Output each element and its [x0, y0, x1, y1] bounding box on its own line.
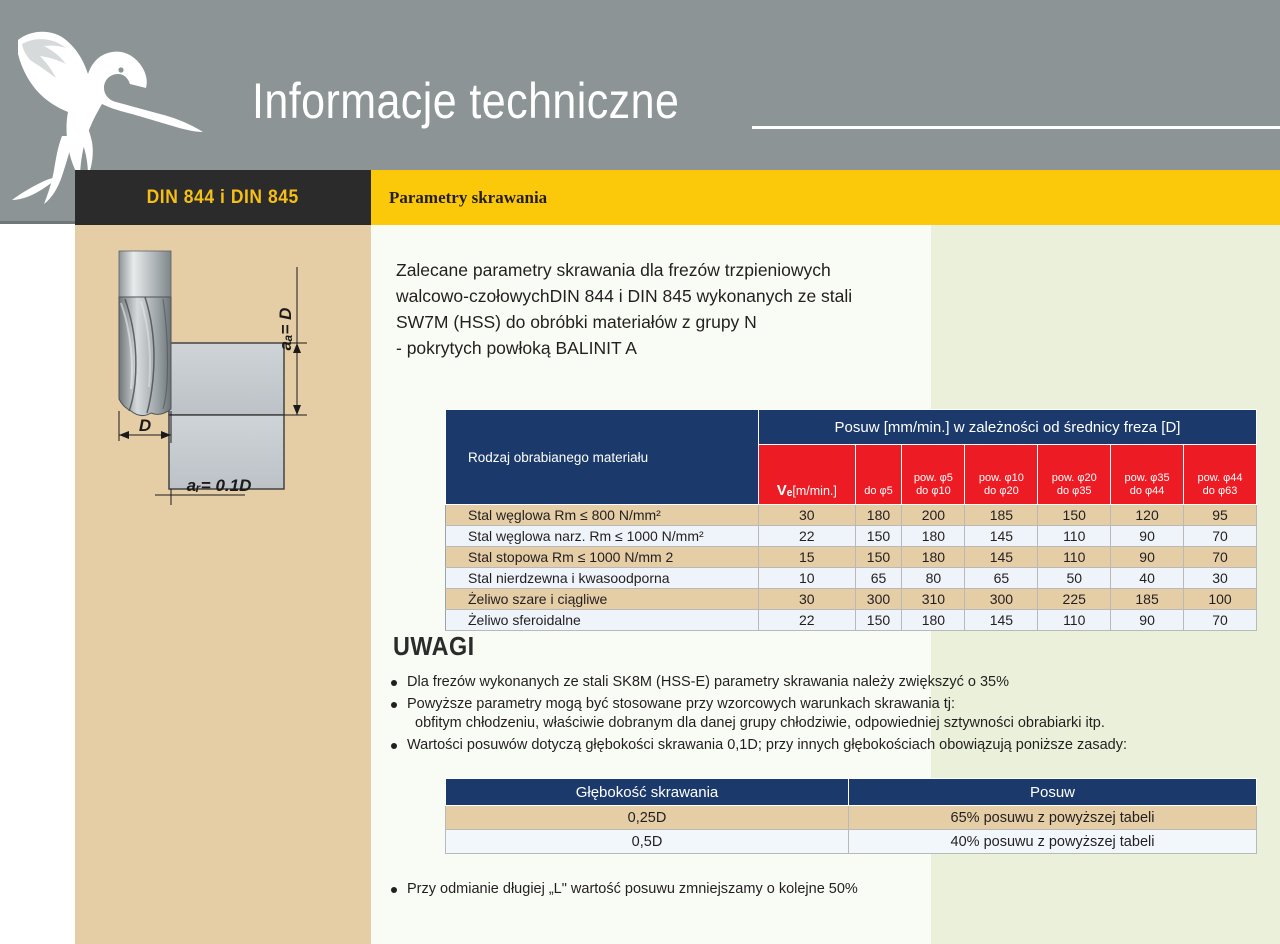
depth-table-row: 0,5D 40% posuwu z powyższej tabeli [446, 830, 1257, 854]
note-text: Powyższe parametry mogą być stosowane pr… [407, 696, 955, 712]
axial-depth-label: aₐ= D [276, 308, 295, 351]
material-name: Stal nierdzewna i kwasoodporna [446, 568, 759, 589]
column-header-d10-20: pow. φ10 do φ20 [965, 445, 1038, 505]
intro-line-1: Zalecane parametry skrawania dla frezów … [396, 257, 996, 283]
table-row: Stal węglowa Rm ≤ 800 N/mm² 30 180 200 1… [446, 505, 1257, 526]
diameter-label: D [139, 416, 151, 435]
intro-line-2: walcowo-czołowychDIN 844 i DIN 845 wykon… [396, 283, 996, 309]
cell-d5: 65 [855, 568, 902, 589]
radial-depth-label: aᵣ= 0.1D [187, 476, 252, 495]
cell-d20-35: 50 [1038, 568, 1111, 589]
cutting-parameters-table: Rodzaj obrabianego materiału Posuw [mm/m… [445, 409, 1257, 631]
cell-d5-10: 180 [902, 526, 965, 547]
title-rule [752, 126, 1280, 129]
cell-d20-35: 110 [1038, 547, 1111, 568]
notes-list-final: Przy odmianie długiej „L" wartość posuwu… [385, 880, 1245, 902]
feed-value: 65% posuwu z powyższej tabeli [849, 806, 1257, 830]
bullet-icon [391, 743, 397, 749]
material-name: Żeliwo szare i ciągliwe [446, 589, 759, 610]
cell-d44-63: 30 [1184, 568, 1257, 589]
column-header-d20-35: pow. φ20 do φ35 [1038, 445, 1111, 505]
cell-vc: 22 [759, 610, 856, 631]
cell-d5: 150 [855, 547, 902, 568]
column-header-d5: do φ5 [855, 445, 902, 505]
sidebar-panel: aₐ= D D aᵣ= 0.1D [75, 225, 371, 944]
end-mill-diagram: aₐ= D D aᵣ= 0.1D [95, 243, 345, 513]
cell-d44-63: 100 [1184, 589, 1257, 610]
vc-symbol: Vₑ [777, 482, 793, 499]
content-panel: Zalecane parametry skrawania dla frezów … [371, 225, 1280, 944]
page-title: Informacje techniczne [252, 72, 679, 130]
material-name: Stal węglowa narz. Rm ≤ 1000 N/mm² [446, 526, 759, 547]
cell-d10-20: 145 [965, 610, 1038, 631]
cell-d20-35: 110 [1038, 610, 1111, 631]
bullet-icon [391, 887, 397, 893]
cell-d10-20: 145 [965, 526, 1038, 547]
cell-d44-63: 95 [1184, 505, 1257, 526]
note-subtext: obfitym chłodzeniu, właściwie dobranym d… [407, 714, 1265, 734]
depth-table-row: 0,25D 65% posuwu z powyższej tabeli [446, 806, 1257, 830]
din-standard-band: DIN 844 i DIN 845 [75, 170, 371, 225]
table-row: Stal węglowa narz. Rm ≤ 1000 N/mm² 22 15… [446, 526, 1257, 547]
cell-d20-35: 150 [1038, 505, 1111, 526]
depth-table-header-row: Głębokość skrawania Posuw [446, 779, 1257, 806]
material-name: Stal węglowa Rm ≤ 800 N/mm² [446, 505, 759, 526]
technical-info-page: Informacje techniczne DIN 844 i DIN 845 … [0, 0, 1280, 944]
cell-d10-20: 145 [965, 547, 1038, 568]
depth-value: 0,5D [446, 830, 849, 854]
cell-d5: 180 [855, 505, 902, 526]
table-row: Żeliwo sferoidalne 22 150 180 145 110 90… [446, 610, 1257, 631]
cell-d44-63: 70 [1184, 526, 1257, 547]
cell-d5: 150 [855, 610, 902, 631]
cell-d35-44: 185 [1111, 589, 1184, 610]
cell-d5-10: 180 [902, 547, 965, 568]
cell-d35-44: 40 [1111, 568, 1184, 589]
depth-value: 0,25D [446, 806, 849, 830]
material-name: Żeliwo sferoidalne [446, 610, 759, 631]
feed-value: 40% posuwu z powyższej tabeli [849, 830, 1257, 854]
column-header-group: Posuw [mm/min.] w zależności od średnicy… [759, 410, 1257, 445]
intro-line-4: - pokrytych powłoką BALINIT A [396, 335, 996, 361]
table-row: Żeliwo szare i ciągliwe 30 300 310 300 2… [446, 589, 1257, 610]
cell-vc: 22 [759, 526, 856, 547]
note-item: Przy odmianie długiej „L" wartość posuwu… [385, 880, 1245, 900]
intro-line-3: SW7M (HSS) do obróbki materiałów z grupy… [396, 309, 996, 335]
column-header-material: Rodzaj obrabianego materiału [446, 410, 759, 505]
cell-d5-10: 80 [902, 568, 965, 589]
intro-paragraph: Zalecane parametry skrawania dla frezów … [396, 257, 996, 361]
notes-list: Dla frezów wykonanych ze stali SK8M (HSS… [385, 673, 1265, 757]
column-header-d5-10: pow. φ5 do φ10 [902, 445, 965, 505]
cell-d20-35: 110 [1038, 526, 1111, 547]
column-header-d35-44: pow. φ35 do φ44 [1111, 445, 1184, 505]
cell-d5-10: 310 [902, 589, 965, 610]
column-header-vc: Vₑ[m/min.] [759, 445, 856, 505]
note-item: Powyższe parametry mogą być stosowane pr… [385, 695, 1265, 734]
cell-vc: 10 [759, 568, 856, 589]
din-standard-label: DIN 844 i DIN 845 [147, 187, 299, 209]
note-text: Przy odmianie długiej „L" wartość posuwu… [407, 881, 858, 897]
depth-column-header: Głębokość skrawania [446, 779, 849, 806]
cell-d35-44: 90 [1111, 610, 1184, 631]
cell-d10-20: 185 [965, 505, 1038, 526]
cell-d5-10: 180 [902, 610, 965, 631]
material-name: Stal stopowa Rm ≤ 1000 N/mm 2 [446, 547, 759, 568]
cell-d5-10: 200 [902, 505, 965, 526]
cell-d20-35: 225 [1038, 589, 1111, 610]
cell-vc: 30 [759, 589, 856, 610]
note-item: Wartości posuwów dotyczą głębokości skra… [385, 736, 1265, 756]
column-header-d44-63: pow. φ44 do φ63 [1184, 445, 1257, 505]
notes-heading: UWAGI [393, 631, 475, 662]
depth-feed-table: Głębokość skrawania Posuw 0,25D 65% posu… [445, 778, 1257, 854]
cell-d5: 150 [855, 526, 902, 547]
bullet-icon [391, 680, 397, 686]
note-text: Dla frezów wykonanych ze stali SK8M (HSS… [407, 674, 1009, 690]
cell-d44-63: 70 [1184, 547, 1257, 568]
section-band: Parametry skrawania [371, 170, 1280, 225]
bullet-icon [391, 702, 397, 708]
cell-d44-63: 70 [1184, 610, 1257, 631]
cell-d5: 300 [855, 589, 902, 610]
note-item: Dla frezów wykonanych ze stali SK8M (HSS… [385, 673, 1265, 693]
vc-unit: [m/min.] [792, 484, 836, 498]
section-label: Parametry skrawania [389, 188, 547, 208]
table-row: Stal nierdzewna i kwasoodporna 10 65 80 … [446, 568, 1257, 589]
table-row: Stal stopowa Rm ≤ 1000 N/mm 2 15 150 180… [446, 547, 1257, 568]
feed-column-header: Posuw [849, 779, 1257, 806]
cell-d10-20: 65 [965, 568, 1038, 589]
cell-vc: 30 [759, 505, 856, 526]
cell-d35-44: 120 [1111, 505, 1184, 526]
cell-d35-44: 90 [1111, 526, 1184, 547]
cell-vc: 15 [759, 547, 856, 568]
table-header-row-top: Rodzaj obrabianego materiału Posuw [mm/m… [446, 410, 1257, 445]
cell-d35-44: 90 [1111, 547, 1184, 568]
note-text: Wartości posuwów dotyczą głębokości skra… [407, 737, 1127, 753]
cell-d10-20: 300 [965, 589, 1038, 610]
